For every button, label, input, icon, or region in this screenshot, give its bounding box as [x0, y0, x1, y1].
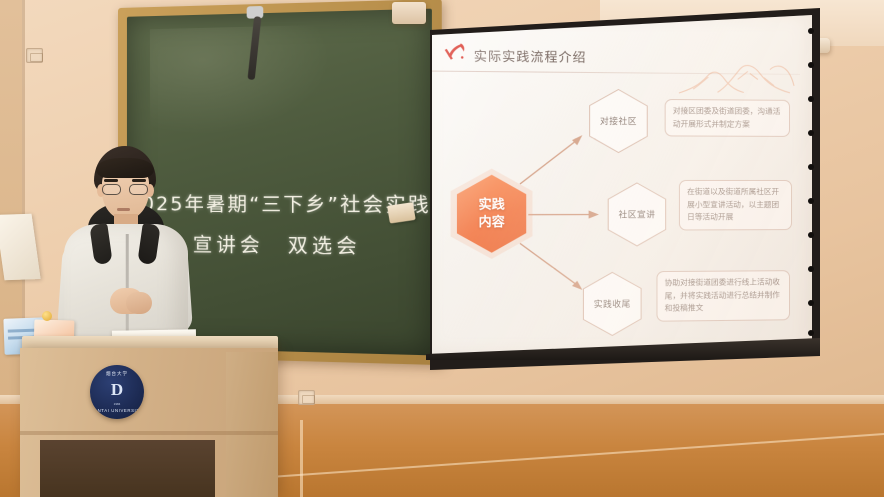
step-description-3: 协助对接街道团委进行线上活动收尾，并将实践活动进行总结并制作和投稿推文 — [656, 270, 790, 321]
logo-chinese-name: 烟台大学 — [90, 371, 144, 377]
step-node-2-label: 社区宣讲 — [607, 208, 667, 220]
center-node-line-2: 内容 — [479, 214, 505, 229]
center-node-label: 实践 内容 — [479, 196, 505, 231]
logo-english-name: YANTAI UNIVERSITY — [90, 408, 144, 413]
hair-fringe — [96, 158, 154, 178]
party-emblem-icon — [444, 41, 467, 64]
arrow-to-step-2 — [526, 206, 605, 223]
wall-outlet — [26, 48, 43, 63]
slide-content: 实际实践流程介绍 — [424, 12, 812, 357]
wall-outlet — [298, 390, 315, 405]
hoodie-zipper — [126, 234, 129, 338]
podium-trim — [20, 431, 278, 435]
logo-monogram: D — [111, 380, 123, 400]
left-eyebrow — [104, 179, 118, 182]
screen-mount-left — [392, 2, 426, 24]
logo-year: 1984 — [90, 402, 144, 406]
step-node-3-label: 实践收尾 — [582, 298, 642, 311]
step-node-1-label: 对接社区 — [589, 115, 649, 127]
right-lens — [129, 184, 148, 195]
right-hand — [126, 292, 152, 314]
eyeglasses-icon — [102, 184, 150, 196]
presenter — [52, 146, 202, 346]
podium-recessed-panel — [40, 440, 215, 497]
step-node-3: 实践收尾 — [582, 271, 642, 337]
left-lens — [102, 184, 121, 195]
yellow-object — [42, 311, 52, 321]
blackboard-glare — [150, 25, 331, 136]
university-logo: 烟台大学 D 1984 YANTAI UNIVERSITY — [90, 365, 144, 419]
floor-seam — [300, 420, 303, 497]
center-node-line-1: 实践 — [479, 196, 505, 211]
podium-side-panel — [226, 352, 278, 497]
classroom-scene: 2025年暑期“三下乡”社会实践 宣讲会 双选会 实际实践流程介绍 — [0, 0, 884, 497]
mountain-line-art-icon — [677, 59, 798, 102]
step-description-2: 在街道以及街道所属社区开展小型宣讲活动，以主题团日等活动开展 — [679, 180, 792, 230]
mouth — [117, 208, 130, 211]
arrow-to-step-1 — [518, 131, 589, 188]
step-node-2: 社区宣讲 — [607, 182, 667, 247]
chalk-eraser — [387, 202, 416, 223]
step-description-1: 对接区团委及街道团委，沟通活动开展形式并制定方案 — [665, 99, 790, 137]
arrow-to-step-3 — [518, 239, 589, 297]
right-eyebrow — [132, 179, 146, 182]
slide-title: 实际实践流程介绍 — [474, 45, 587, 66]
screen-eyelets — [806, 16, 818, 346]
step-node-1: 对接社区 — [589, 88, 649, 153]
